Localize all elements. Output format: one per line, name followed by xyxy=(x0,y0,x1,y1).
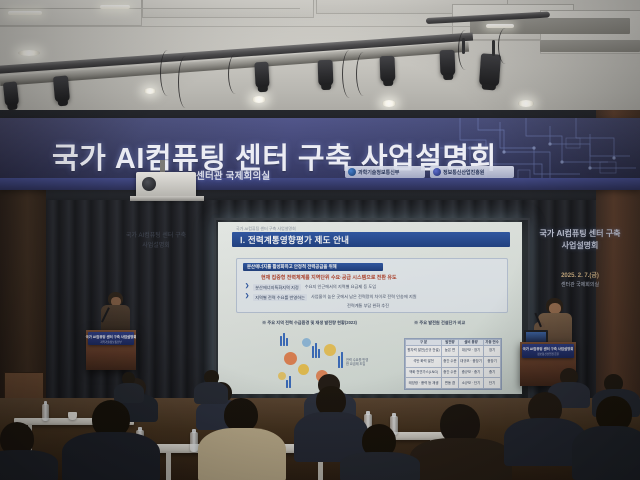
ceiling-panel xyxy=(142,0,314,18)
audience-body xyxy=(194,382,228,404)
laptop-screen xyxy=(526,332,546,342)
audience-body xyxy=(62,432,160,480)
stage-light-fixture xyxy=(3,81,19,106)
slide-data-table: 구 분 발전량 설비 용량 가동 연수 원자력 발전(신규 건설) 높은 편 대… xyxy=(404,338,502,390)
infographic-circle xyxy=(284,352,297,365)
podium-sign-line1: 국가 AI컴퓨팅 센터 구축 사업설명회 xyxy=(86,334,137,339)
slide-row-value-cont: 전력계통 부담 완화 추진 xyxy=(347,303,389,309)
stage-light-fixture xyxy=(53,75,70,102)
slide-bullet-row: ❯ 분산에너지특화지역 지정 수요지 인근에서의 지역별 요금제 등 도입 xyxy=(245,284,376,291)
ceiling-seam xyxy=(0,8,300,9)
right-podium-sign: 국가 AI컴퓨팅 센터 구축 사업설명회 정보통신산업진흥원 xyxy=(522,344,574,358)
podium-sign-line2: 과학기술정보통신부 xyxy=(100,340,121,344)
table-cell: 중간 수준 xyxy=(442,356,459,367)
conference-photo-scene: 국가 AI컴퓨팅 센터 구축 사업설명회 센터관 국제회의실 과학기술정보통신부… xyxy=(0,0,640,480)
banner-subtitle: 센터관 국제회의실 xyxy=(196,168,270,182)
table-cell: 중기 xyxy=(484,367,501,378)
nipa-logo-icon xyxy=(433,168,441,176)
stage-light-fixture xyxy=(380,56,396,83)
hanging-cable xyxy=(178,56,193,108)
water-bottle xyxy=(42,404,49,421)
slide-left-caption: ※ 주요 지역 전력 수급환경 및 재생 발전량 현황(2023) xyxy=(262,320,357,326)
audience-head xyxy=(224,398,258,432)
infographic-bar xyxy=(286,338,288,346)
audience-body xyxy=(114,383,144,403)
slide-content-box: 분산에너지를 활성화하고 안정적 전력공급을 위해 현재 집중형 전력체계를 지… xyxy=(236,258,508,313)
podium-sign-line1: 국가 AI컴퓨팅 센터 구축 사업설명회 xyxy=(523,346,574,351)
ceiling-vent xyxy=(540,40,640,52)
slide-title-bar: Ⅰ. 전력계통영향평가 제도 안내 xyxy=(232,232,510,247)
banner-bottom-strip xyxy=(0,178,640,190)
nipa-logo: 정보통신산업진흥원 xyxy=(430,166,514,178)
truss-yoke xyxy=(492,40,495,56)
slide-row-key: 지역별 전력 수요를 반영하는 xyxy=(253,294,307,301)
desk-leg xyxy=(166,452,171,480)
infographic-bar xyxy=(283,333,285,346)
table-header-row: 구 분 발전량 설비 용량 가동 연수 xyxy=(406,340,501,346)
infographic-bar xyxy=(280,336,282,346)
ceiling-downlight xyxy=(18,50,40,56)
side-banner-title-line2: 사업설명회 xyxy=(524,240,636,252)
slide-row-value: 수요지 인근에서의 지역별 요금제 등 도입 xyxy=(305,284,376,290)
audience-body xyxy=(0,450,58,480)
slide-right-caption: ※ 주요 발전원 건설단가 비교 xyxy=(414,320,465,326)
infographic-bar xyxy=(315,343,317,358)
infographic-note: 전력 수요를 반영한 요금제 도입 xyxy=(346,358,370,367)
left-wall-projection: 국가 AI컴퓨팅 센터 구축 사업설명회 xyxy=(110,232,202,251)
stage-light-fixture xyxy=(479,53,501,86)
ceiling-downlight xyxy=(518,100,534,107)
table-cell: 장기 xyxy=(484,346,501,357)
slide-row-value: 사업물이 높은 곳에서 남은 전력량의 차이로 전력 인송에 지원 xyxy=(311,294,417,300)
side-banner-venue: 센터관 국제회의실 xyxy=(524,281,636,288)
table-cell: 중규모 · 중기 xyxy=(458,367,483,378)
infographic-bar xyxy=(312,346,314,358)
table-row: 태양광 · 풍력 등 재생 변동 큼 소규모 · 단기 단기 xyxy=(406,378,501,389)
ceiling-projector xyxy=(136,172,196,198)
slide-box-lead-text: 현재 집중형 전력체계를 지역단위 수요·공급 시스템으로 전환 유도 xyxy=(261,274,397,281)
table-cell: 중간 수준 xyxy=(442,367,459,378)
infographic-circle xyxy=(324,344,336,356)
table-cell: 소규모 · 단기 xyxy=(458,378,483,389)
left-projection-line2: 사업설명회 xyxy=(110,242,202,252)
stage-light-fixture xyxy=(254,62,269,89)
table-header-cell: 가동 연수 xyxy=(484,340,501,346)
infographic-bar xyxy=(341,352,343,368)
hanging-cable xyxy=(458,30,473,70)
table-cell: 태양광 · 풍력 등 재생 xyxy=(406,378,442,389)
table-cell: 변동 큼 xyxy=(442,378,459,389)
ceiling-tube-light xyxy=(100,5,130,9)
ministry-logo-label: 과학기술정보통신부 xyxy=(358,169,399,176)
infographic-bar xyxy=(318,349,320,358)
hanging-cable xyxy=(228,54,243,94)
infographic-circle xyxy=(302,338,311,347)
projector-arm xyxy=(130,196,204,201)
table-cell: 액화 천연가스(LNG) xyxy=(406,367,442,378)
ceiling-downlight xyxy=(144,88,156,94)
left-podium-sign: 국가 AI컴퓨팅 센터 구축 사업설명회 과학기술정보통신부 xyxy=(88,332,134,345)
stage-light-fixture xyxy=(318,60,334,87)
side-banner: 국가 AI컴퓨팅 센터 구축 사업설명회 2025. 2. 7.(금) 센터관 … xyxy=(524,228,636,288)
ceiling-downlight xyxy=(382,100,396,107)
nipa-logo-label: 정보통신산업진흥원 xyxy=(443,169,484,176)
ceiling-seam xyxy=(0,26,480,27)
ministry-logo: 과학기술정보통신부 xyxy=(345,166,425,178)
table-cell: 대규모 · 장기 xyxy=(458,346,483,357)
stage-light-fixture xyxy=(440,50,456,77)
table-row: 액화 천연가스(LNG) 중간 수준 중규모 · 중기 중기 xyxy=(406,367,501,378)
ceiling-tube-light xyxy=(486,24,514,28)
infographic-bar xyxy=(289,376,291,388)
ceiling-tube-light xyxy=(8,11,42,15)
table-row: 석탄 화력 발전 중간 수준 대규모 · 중장기 중장기 xyxy=(406,356,501,367)
infographic-circle xyxy=(298,364,309,375)
side-banner-title-line1: 국가 AI컴퓨팅 센터 구축 xyxy=(524,228,636,240)
ministry-logo-icon xyxy=(348,168,356,176)
ceiling-downlight xyxy=(252,96,266,103)
side-banner-date: 2025. 2. 7.(금) xyxy=(524,270,636,279)
audience-body xyxy=(198,428,286,480)
table-cell: 높은 편 xyxy=(442,346,459,357)
ceiling xyxy=(0,0,640,118)
audience-body xyxy=(572,426,640,480)
slide-bullet-row: ❯ 지역별 전력 수요를 반영하는 사업물이 높은 곳에서 남은 전력량의 차이… xyxy=(245,294,417,301)
hanging-cable xyxy=(342,50,357,98)
hanging-cable xyxy=(356,52,371,96)
table-cell: 대규모 · 중장기 xyxy=(458,356,483,367)
paper-cup xyxy=(68,412,77,420)
hanging-cable xyxy=(498,28,513,64)
bullet-arrow-icon: ❯ xyxy=(245,284,249,289)
table-cell: 석탄 화력 발전 xyxy=(406,356,442,367)
infographic-bar xyxy=(286,380,288,388)
slide-title-text: Ⅰ. 전력계통영향평가 제도 안내 xyxy=(240,234,349,246)
table-cell: 원자력 발전(신규 건설) xyxy=(406,346,442,357)
infographic-circle xyxy=(278,372,286,380)
podium-sign-line2: 정보통신산업진흥원 xyxy=(537,352,558,356)
projector-lens-icon xyxy=(142,177,156,191)
audience-body xyxy=(340,452,420,480)
slide-row-key: 분산에너지특화지역 지정 xyxy=(253,284,301,291)
table-row: 원자력 발전(신규 건설) 높은 편 대규모 · 장기 장기 xyxy=(406,346,501,357)
infographic-bar xyxy=(338,356,340,368)
table-cell: 중장기 xyxy=(484,356,501,367)
hanging-cable xyxy=(160,50,175,96)
left-projection-line1: 국가 AI컴퓨팅 센터 구축 xyxy=(110,232,202,242)
bullet-arrow-icon: ❯ xyxy=(245,294,249,299)
slide-box-header-text: 분산에너지를 활성화하고 안정적 전력공급을 위해 xyxy=(247,264,337,270)
audience-body xyxy=(410,438,512,480)
table-cell: 단기 xyxy=(484,378,501,389)
water-bottle xyxy=(190,432,198,452)
